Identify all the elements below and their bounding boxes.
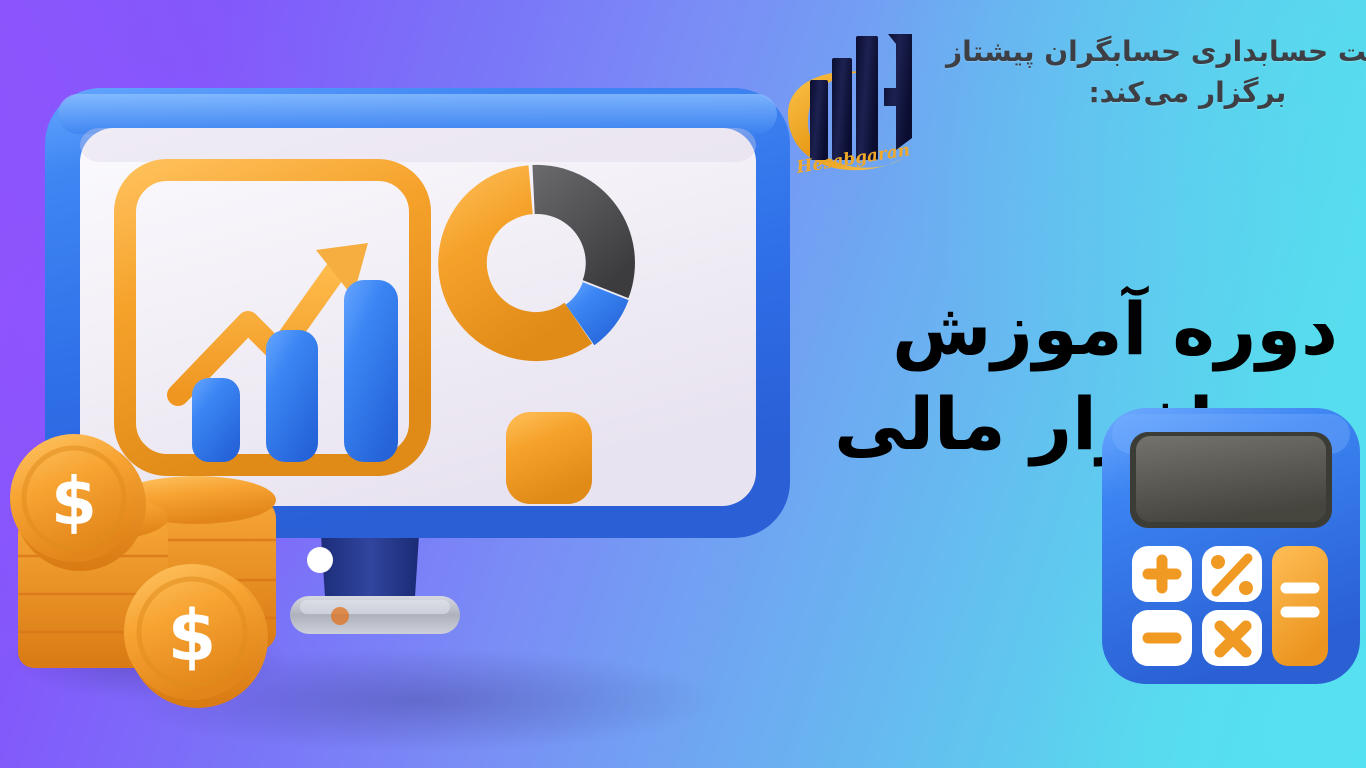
- company-logo: Hesabgaran: [776, 18, 936, 188]
- svg-text:$: $: [168, 595, 217, 677]
- bar-1: [192, 378, 240, 462]
- brand-text-block: شرکت حسابداری حسابگران پیشتاز برگزار می‌…: [946, 18, 1366, 113]
- bar-3: [344, 280, 398, 462]
- brand-row: Hesabgaran شرکت حسابداری حسابگران پیشتاز…: [776, 18, 1352, 188]
- key-equals: [1272, 546, 1328, 666]
- announce-line: برگزار می‌کند:: [946, 73, 1366, 114]
- promo-banner: $ $: [0, 0, 1366, 768]
- company-name: شرکت حسابداری حسابگران پیشتاز: [946, 32, 1366, 73]
- headline-line-1: دوره آموزش: [798, 282, 1338, 377]
- bar-2: [266, 330, 318, 462]
- orange-block: [506, 412, 592, 504]
- svg-text:$: $: [51, 463, 97, 540]
- calculator: [1096, 396, 1366, 696]
- finance-illustration: $ $: [0, 0, 790, 768]
